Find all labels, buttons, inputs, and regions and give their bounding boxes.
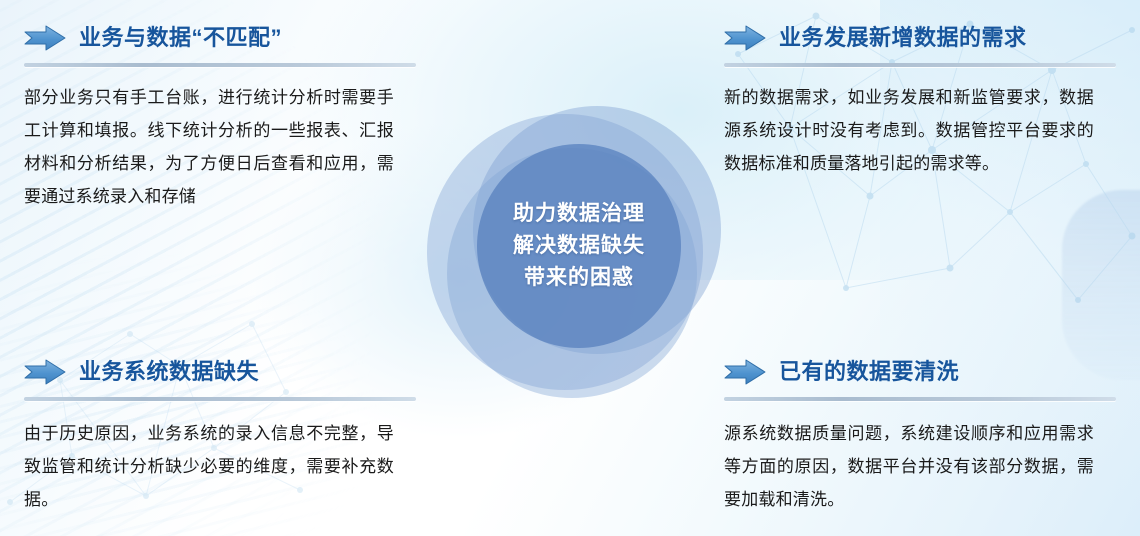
card-header: 已有的数据要清洗: [724, 352, 1116, 392]
card-title: 业务与数据“不匹配”: [79, 27, 282, 49]
card-title: 已有的数据要清洗: [779, 361, 959, 383]
card-business-data-mismatch: 业务与数据“不匹配” 部分业务只有手工台账，进行统计分析时需要手工计算和填报。线…: [24, 18, 416, 214]
card-business-system-data-missing: 业务系统数据缺失 由于历史原因，业务系统的录入信息不完整，导致监管和统计分析缺少…: [24, 352, 416, 516]
arrow-right-icon: [724, 359, 766, 385]
card-title: 业务系统数据缺失: [79, 361, 259, 383]
center-slogan-line-1: 助力数据治理: [513, 199, 645, 229]
arrow-right-icon: [24, 359, 66, 385]
center-slogan: 助力数据治理 解决数据缺失 带来的困惑: [477, 144, 681, 348]
center-venn-graphic: 助力数据治理 解决数据缺失 带来的困惑: [425, 104, 725, 394]
card-header: 业务系统数据缺失: [24, 352, 416, 392]
slide-canvas: 业务与数据“不匹配” 部分业务只有手工台账，进行统计分析时需要手工计算和填报。线…: [0, 0, 1140, 536]
arrow-right-icon: [24, 25, 66, 51]
card-body-text: 部分业务只有手工台账，进行统计分析时需要手工计算和填报。线下统计分析的一些报表、…: [24, 81, 394, 214]
card-body-text: 新的数据需求，如业务发展和新监管要求，数据源系统设计时没有考虑到。数据管控平台要…: [724, 81, 1094, 180]
arrow-right-icon: [724, 25, 766, 51]
center-slogan-line-3: 带来的困惑: [524, 263, 634, 293]
card-divider: [724, 63, 1116, 67]
center-slogan-line-2: 解决数据缺失: [513, 231, 645, 261]
card-new-data-demand: 业务发展新增数据的需求 新的数据需求，如业务发展和新监管要求，数据源系统设计时没…: [724, 18, 1116, 180]
card-title: 业务发展新增数据的需求: [779, 27, 1027, 49]
card-header: 业务发展新增数据的需求: [724, 18, 1116, 58]
card-body-text: 由于历史原因，业务系统的录入信息不完整，导致监管和统计分析缺少必要的维度，需要补…: [24, 417, 394, 516]
card-existing-data-cleanse: 已有的数据要清洗 源系统数据质量问题，系统建设顺序和应用需求等方面的原因，数据平…: [724, 352, 1116, 516]
card-header: 业务与数据“不匹配”: [24, 18, 416, 58]
card-divider: [24, 63, 416, 67]
card-body-text: 源系统数据质量问题，系统建设顺序和应用需求等方面的原因，数据平台并没有该部分数据…: [724, 417, 1094, 516]
card-divider: [724, 397, 1116, 401]
card-divider: [24, 397, 416, 401]
